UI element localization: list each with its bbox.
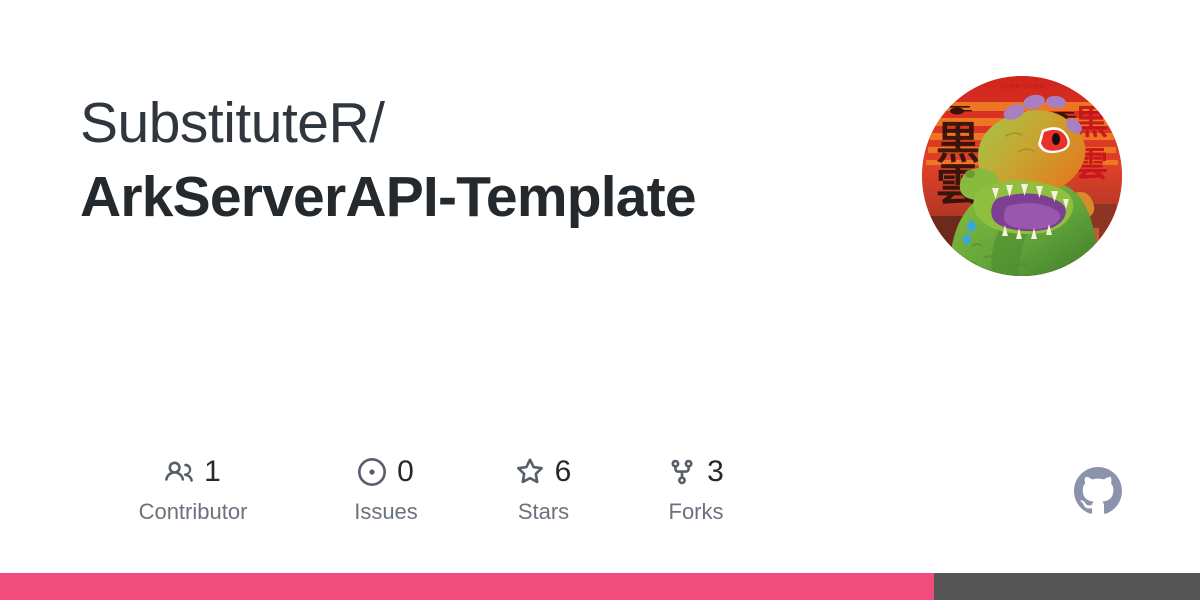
stat-forks: 3 Forks [621, 452, 771, 525]
stat-contributor: 1 Contributor [80, 452, 306, 525]
people-icon [165, 458, 193, 486]
repository-owner: SubstituteR/ [80, 86, 880, 160]
stat-issues-label: Issues [354, 499, 418, 525]
language-bar [0, 573, 1200, 600]
stat-stars-label: Stars [518, 499, 569, 525]
github-mark-icon [1074, 467, 1122, 515]
language-segment-secondary [934, 573, 1200, 600]
stat-forks-value: 3 [707, 456, 724, 488]
repository-name: ArkServerAPI-Template [80, 160, 880, 234]
issue-opened-icon [358, 458, 386, 486]
language-segment-primary [0, 573, 934, 600]
stat-stars: 6 Stars [466, 452, 621, 525]
repository-stats: 1 Contributor 0 Issues [80, 452, 771, 525]
svg-text:ジャクターシンボル: ジャクターシンボル [1000, 83, 1044, 90]
stat-stars-value: 6 [555, 456, 572, 488]
avatar: 黒 雲 黒 雲 ジャクターシンボル [922, 76, 1122, 276]
repo-forked-icon [668, 458, 696, 486]
stat-contributor-label: Contributor [139, 499, 248, 525]
stat-issues-top: 0 [358, 452, 414, 492]
social-preview-card: SubstituteR/ ArkServerAPI-Template [0, 0, 1200, 600]
stat-stars-top: 6 [516, 452, 572, 492]
star-icon [516, 458, 544, 486]
stat-forks-label: Forks [669, 499, 724, 525]
repository-title: SubstituteR/ ArkServerAPI-Template [80, 86, 880, 234]
stat-issues-value: 0 [397, 456, 414, 488]
stat-contributor-top: 1 [165, 452, 221, 492]
stat-contributor-value: 1 [204, 456, 221, 488]
stat-forks-top: 3 [668, 452, 724, 492]
stat-issues: 0 Issues [306, 452, 466, 525]
